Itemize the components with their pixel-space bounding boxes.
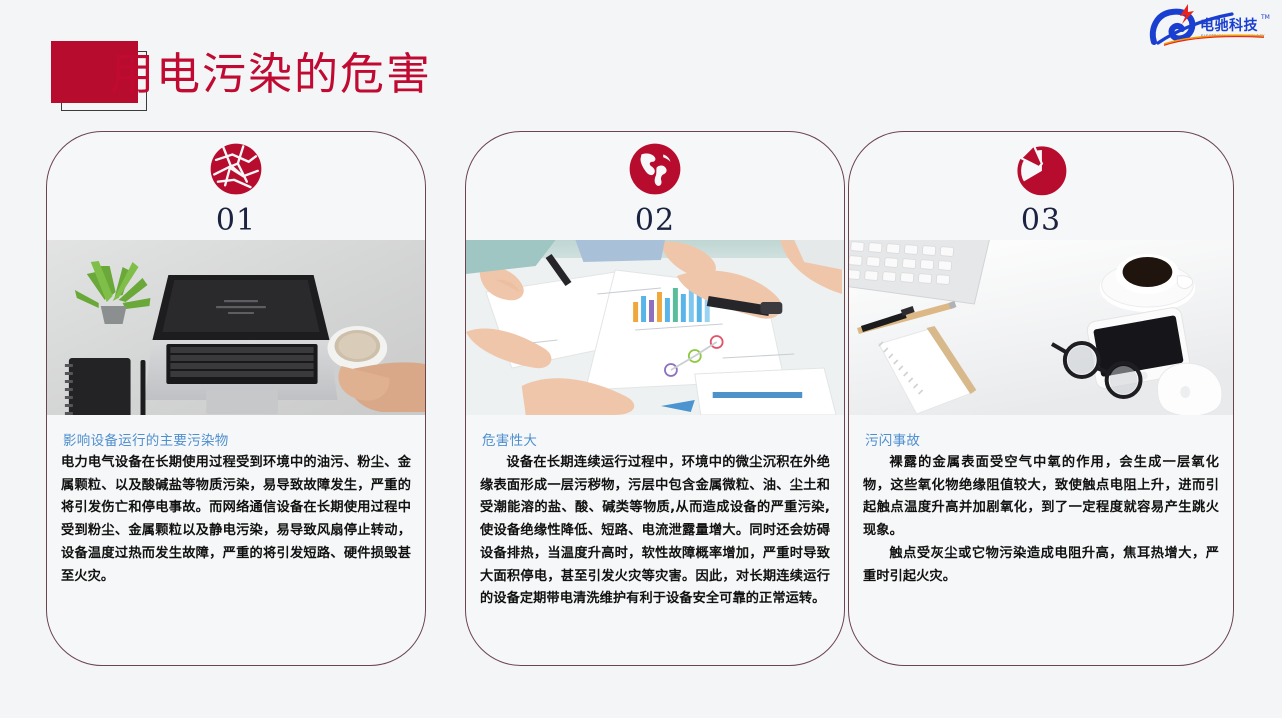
card-2-body: 危害性大 设备在长期连续运行过程中，环境中的微尘沉积在外绝缘表面形成一层污秽物，… (466, 415, 844, 611)
svg-text:TM: TM (1260, 14, 1270, 21)
card-3-text: 裸露的金属表面受空气中氧的作用，会生成一层氧化物，这些氧化物绝缘阻值较大，致使触… (863, 452, 1219, 588)
svg-text:电驰科技: 电驰科技 (1200, 17, 1258, 34)
logo-graphic: 电驰科技 TM ELECTRICAL CHI TECHNOLOGY (1144, 2, 1276, 46)
page-title: 用电污染的危害 (110, 38, 432, 102)
card-2-heading: 危害性大 (482, 429, 830, 449)
card-3-heading: 污闪事故 (865, 429, 1219, 449)
card-2-photo (466, 240, 844, 415)
team-meeting-charts-photo (466, 240, 844, 415)
card-2-text: 设备在长期连续运行过程中，环境中的微尘沉积在外绝缘表面形成一层污秽物，污层中包含… (480, 452, 830, 611)
content-card-2: 02 (465, 131, 845, 666)
card-3-body: 污闪事故 裸露的金属表面受空气中氧的作用，会生成一层氧化物，这些氧化物绝缘阻值较… (849, 415, 1233, 588)
pie-chart-icon (1012, 140, 1070, 198)
desk-keyboard-coffee-phone-photo (849, 240, 1233, 415)
card-2-number: 02 (635, 206, 675, 236)
network-globe-icon (207, 140, 265, 198)
card-3-number: 03 (1021, 206, 1061, 236)
card-3-paragraph-2: 触点受灰尘或它物污染造成电阻升高，焦耳热增大，严重时引起火灾。 (863, 543, 1219, 588)
world-globe-icon (626, 140, 684, 198)
card-1-text: 电力电气设备在长期使用过程受到环境中的油污、粉尘、金属颗粒、以及酸碱盐等物质污染… (61, 452, 411, 588)
card-3-paragraph-1: 裸露的金属表面受空气中氧的作用，会生成一层氧化物，这些氧化物绝缘阻值较大，致使触… (863, 452, 1219, 543)
card-3-photo (849, 240, 1233, 415)
card-1-number: 01 (216, 206, 256, 236)
slide-canvas: 电驰科技 TM ELECTRICAL CHI TECHNOLOGY 用电污染的危… (0, 0, 1282, 718)
content-card-1: 01 (46, 131, 426, 666)
card-3-header: 03 (849, 132, 1233, 240)
card-1-photo (47, 240, 425, 415)
desk-laptop-plant-coffee-photo (47, 240, 425, 415)
company-logo: 电驰科技 TM ELECTRICAL CHI TECHNOLOGY (1144, 2, 1276, 46)
card-2-header: 02 (466, 132, 844, 240)
card-1-header: 01 (47, 132, 425, 240)
card-1-heading: 影响设备运行的主要污染物 (63, 429, 411, 449)
card-1-body: 影响设备运行的主要污染物 电力电气设备在长期使用过程受到环境中的油污、粉尘、金属… (47, 415, 425, 588)
content-card-3: 03 (848, 131, 1234, 666)
